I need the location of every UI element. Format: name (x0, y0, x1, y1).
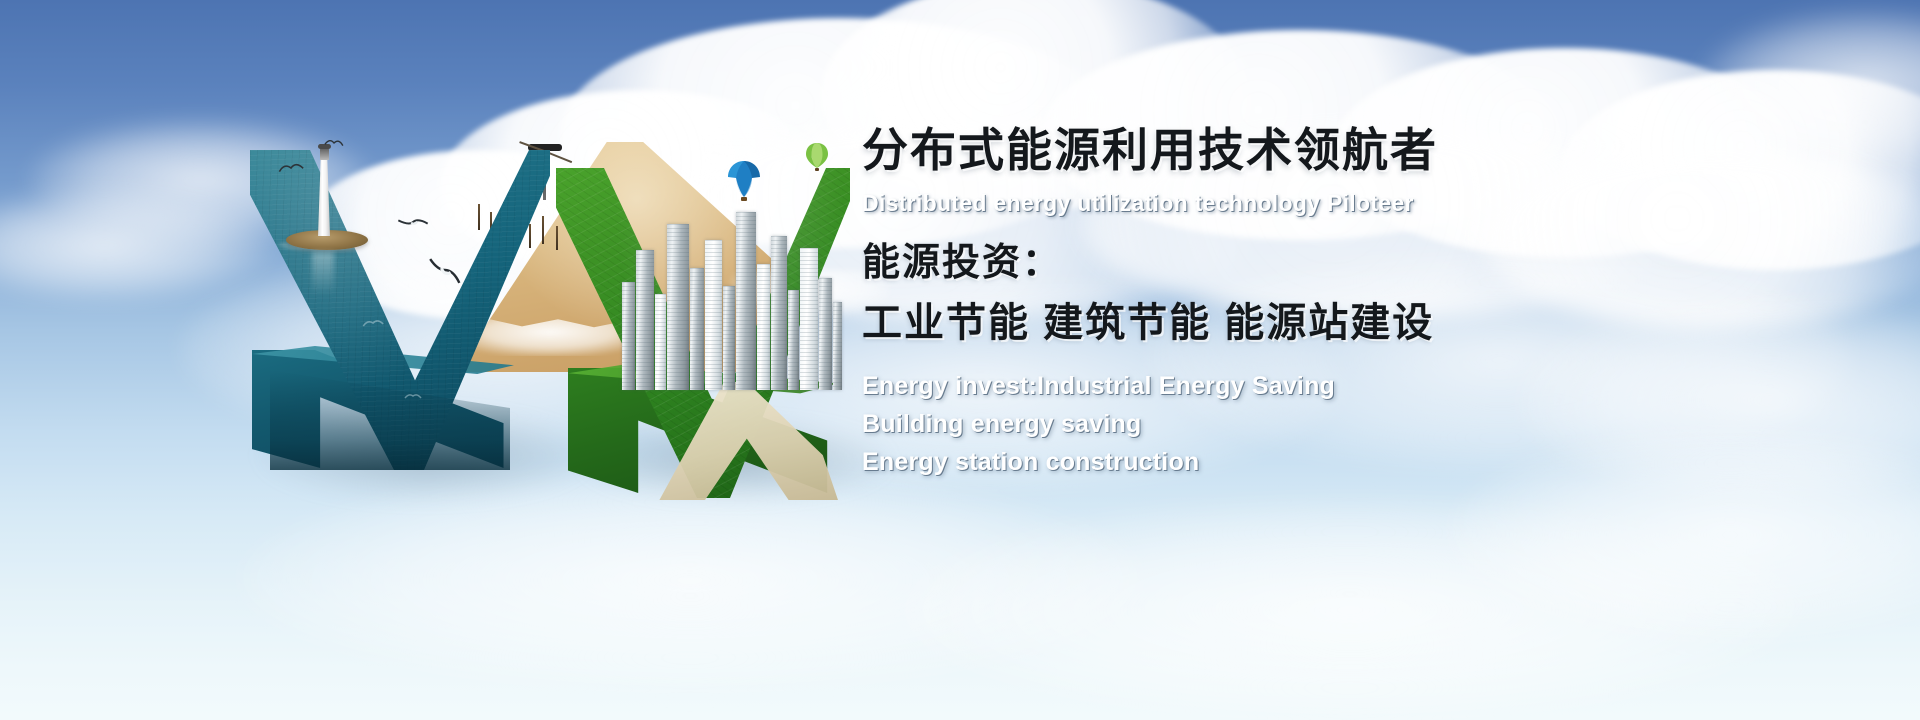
cloud-icon (240, 470, 1140, 690)
services-chinese: 工业节能 建筑节能 能源站建设 (862, 301, 1872, 346)
services-english-block: Energy invest:Industrial Energy Saving B… (862, 367, 1872, 481)
services-english-line: Building energy saving (862, 405, 1872, 443)
seagull-icon (324, 137, 345, 148)
section-label: 能源投资： (862, 242, 1872, 285)
lighthouse-icon (318, 160, 330, 236)
city-skyline-icon (622, 192, 842, 390)
seagull-icon (404, 392, 422, 401)
beach-pole-icon (529, 224, 531, 248)
cloud-icon (900, 500, 1800, 720)
services-english-line: Energy invest:Industrial Energy Saving (862, 367, 1872, 405)
w-landscape-artwork (250, 120, 870, 500)
lighthouse-icon (320, 148, 329, 160)
seagull-icon (395, 207, 430, 237)
lighthouse-reflection (312, 252, 334, 296)
banner-copy: 分布式能源利用技术领航者 Distributed energy utilizat… (862, 126, 1872, 481)
subtitle-english: Distributed energy utilization technolog… (862, 191, 1872, 216)
services-english-line: Energy station construction (862, 443, 1872, 481)
beach-pole-icon (542, 216, 544, 244)
hero-banner: 分布式能源利用技术领航者 Distributed energy utilizat… (0, 0, 1920, 720)
page-title: 分布式能源利用技术领航者 (862, 126, 1872, 175)
beach-pole-icon (478, 204, 480, 230)
seagull-icon (424, 254, 467, 286)
cloud-icon (0, 190, 270, 300)
hot-air-balloon-icon (727, 160, 761, 207)
beach-pole-icon (556, 226, 558, 250)
hot-air-balloon-icon (805, 142, 829, 177)
